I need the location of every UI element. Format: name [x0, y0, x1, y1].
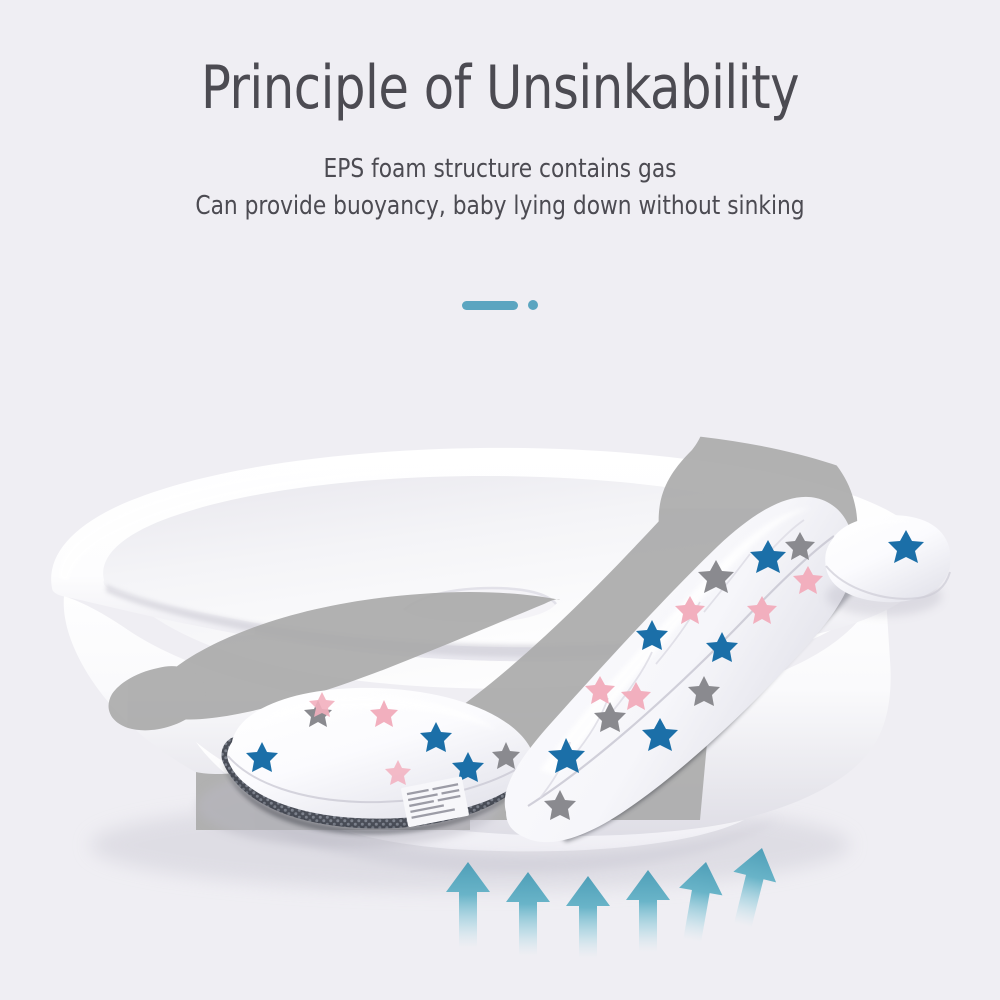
illustration-canvas: [0, 0, 1000, 1000]
head-pillow-fabric: [825, 515, 950, 602]
product-illustration: [0, 0, 1000, 1000]
head-pillow: [825, 515, 950, 616]
infographic-page: Principle of Unsinkability EPS foam stru…: [0, 0, 1000, 1000]
